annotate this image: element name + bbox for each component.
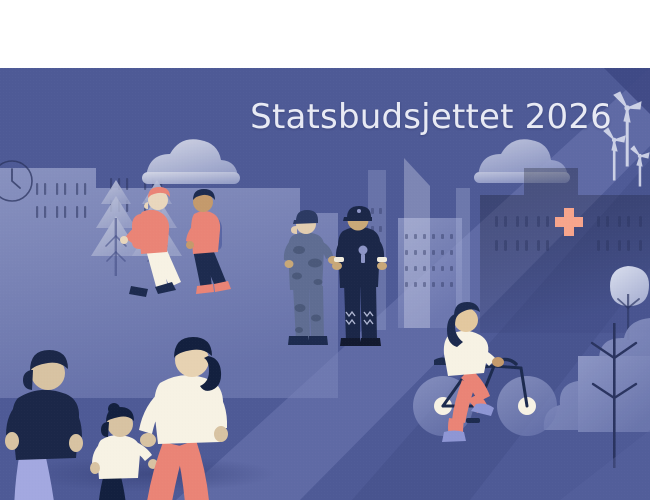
scene-artwork	[0, 68, 650, 500]
illustration-banner: Statsbudsjettet 2026	[0, 0, 650, 500]
top-white-band	[0, 0, 650, 68]
grain-overlay	[0, 68, 650, 500]
hero-illustration: Statsbudsjettet 2026	[0, 68, 650, 500]
